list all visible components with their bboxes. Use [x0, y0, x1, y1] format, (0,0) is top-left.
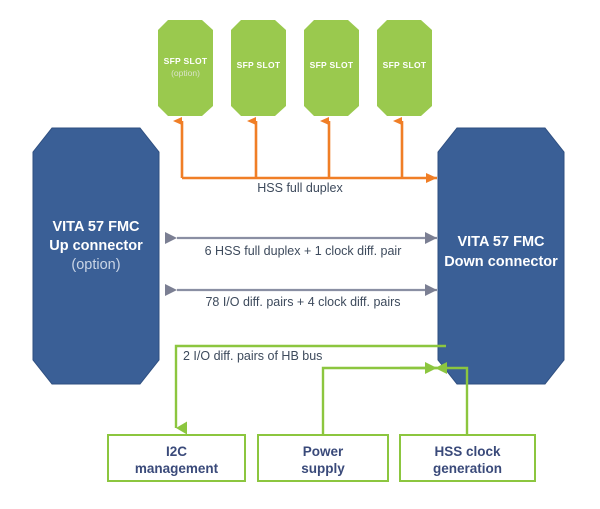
power-supply-line	[323, 368, 435, 435]
fmc-block-diagram: VITA 57 FMC Up connector (option) VITA 5…	[0, 0, 600, 509]
label-io-78-pairs: 78 I/O diff. pairs + 4 clock diff. pairs	[205, 295, 400, 309]
power-supply-line2: supply	[301, 461, 345, 476]
sfp-slot-3[interactable]: SFP SLOT	[304, 20, 359, 116]
down-connector-line1: VITA 57 FMC	[457, 234, 545, 250]
up-connector-line3: (option)	[71, 257, 120, 273]
i2c-management-line1: I2C	[166, 444, 187, 459]
up-connector-shape	[33, 128, 159, 384]
sfp-slot-2-label: SFP SLOT	[237, 60, 281, 70]
label-hb-bus: 2 I/O diff. pairs of HB bus	[183, 349, 322, 363]
power-supply-block[interactable]: Power supply	[258, 435, 388, 481]
hss-clock-generation-line1: HSS clock	[434, 444, 501, 459]
sfp-slot-1[interactable]: SFP SLOT (option)	[158, 20, 213, 116]
i2c-management-line2: management	[135, 461, 219, 476]
label-hss-6-plus-clock: 6 HSS full duplex + 1 clock diff. pair	[205, 244, 402, 258]
up-connector-line1: VITA 57 FMC	[52, 219, 140, 235]
hss-clock-generation-line2: generation	[433, 461, 502, 476]
down-connector-line2: Down connector	[444, 254, 558, 270]
label-hss-full-duplex: HSS full duplex	[257, 181, 343, 195]
i2c-management-block[interactable]: I2C management	[108, 435, 245, 481]
power-supply-line1: Power	[303, 444, 344, 459]
vita-57-fmc-down-connector[interactable]: VITA 57 FMC Down connector	[438, 128, 564, 384]
sfp-slot-3-label: SFP SLOT	[310, 60, 354, 70]
up-connector-line2: Up connector	[49, 238, 143, 254]
diagram-canvas: VITA 57 FMC Up connector (option) VITA 5…	[0, 0, 600, 509]
vita-57-fmc-up-connector[interactable]: VITA 57 FMC Up connector (option)	[33, 128, 159, 384]
sfp-slot-2[interactable]: SFP SLOT	[231, 20, 286, 116]
sfp-slot-4-label: SFP SLOT	[383, 60, 427, 70]
hss-clock-generation-block[interactable]: HSS clock generation	[400, 435, 535, 481]
sfp-slot-1-label: SFP SLOT	[164, 56, 208, 66]
sfp-slot-1-sublabel: (option)	[171, 68, 200, 78]
sfp-slot-4[interactable]: SFP SLOT	[377, 20, 432, 116]
hss-orange-routing	[182, 121, 437, 178]
